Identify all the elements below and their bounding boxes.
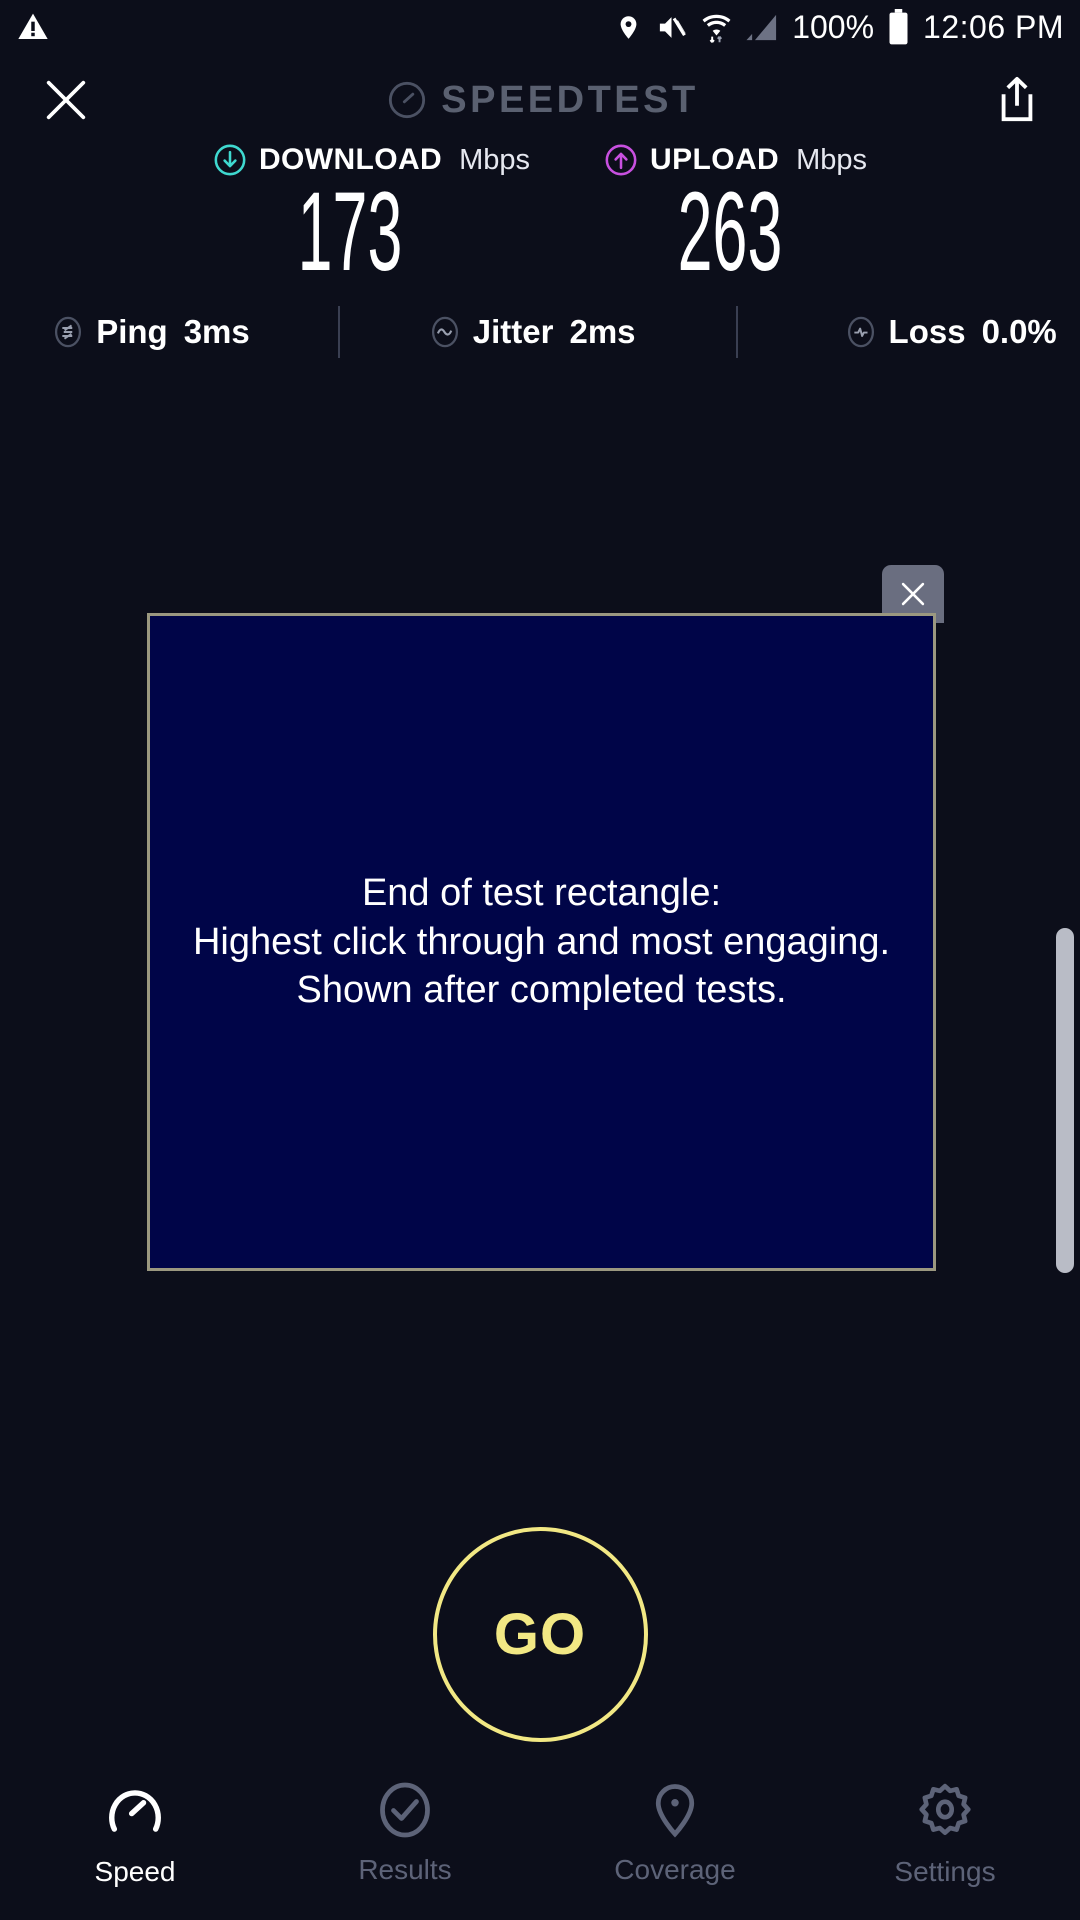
result-labels-row: DOWNLOAD Mbps UPLOAD Mbps (0, 143, 1080, 177)
warning-triangle-icon (16, 11, 50, 43)
ad-line-3: Shown after completed tests. (193, 966, 890, 1015)
go-button[interactable]: GO (433, 1527, 648, 1742)
cell-signal-icon (745, 12, 779, 43)
upload-value-box: 263 (540, 176, 920, 288)
metric-divider-2 (736, 306, 738, 358)
loss-icon (844, 315, 878, 349)
ad-line-2: Highest click through and most engaging. (193, 918, 890, 967)
advertisement-banner[interactable]: End of test rectangle: Highest click thr… (147, 613, 936, 1271)
nav-item-settings[interactable]: Settings (810, 1780, 1080, 1888)
battery-full-icon (887, 9, 910, 45)
ad-text-block: End of test rectangle: Highest click thr… (193, 869, 890, 1015)
jitter-icon (428, 315, 462, 349)
metric-jitter-value: 2ms (569, 313, 635, 351)
ping-icon (51, 315, 85, 349)
app-header: SPEEDTEST (0, 60, 1080, 140)
nav-label-results: Results (358, 1854, 451, 1886)
metric-ping-value: 3ms (184, 313, 250, 351)
page-title: SPEEDTEST (441, 79, 698, 122)
metric-loss-label: Loss (889, 313, 966, 351)
speedtest-app-screen: 100% 12:06 PM SPEEDTEST (0, 0, 1080, 1920)
vertical-scrollbar[interactable] (1056, 928, 1074, 1273)
metric-jitter-label: Jitter (473, 313, 554, 351)
check-circle-icon (375, 1780, 435, 1840)
mute-icon (655, 12, 688, 43)
brand-logo: SPEEDTEST (387, 79, 698, 122)
wifi-icon (701, 11, 732, 44)
speedometer-icon (387, 80, 427, 120)
status-bar-left (16, 11, 50, 43)
clock-label: 12:06 PM (923, 9, 1064, 46)
status-bar-right: 100% 12:06 PM (615, 9, 1064, 46)
nav-label-coverage: Coverage (614, 1854, 735, 1886)
upload-unit: Mbps (796, 144, 867, 177)
metric-divider-1 (338, 306, 340, 358)
speedometer-icon (104, 1780, 166, 1842)
metric-ping: Ping 3ms (51, 313, 250, 351)
nav-label-speed: Speed (95, 1856, 176, 1888)
gear-icon (914, 1780, 976, 1842)
nav-item-coverage[interactable]: Coverage (540, 1780, 810, 1886)
nav-label-settings: Settings (894, 1856, 995, 1888)
ad-line-1: End of test rectangle: (193, 869, 890, 918)
share-icon[interactable] (994, 75, 1040, 125)
download-value-box: 173 (160, 176, 540, 288)
go-button-container: GO (0, 1527, 1080, 1742)
go-button-label: GO (494, 1601, 586, 1668)
battery-percent-label: 100% (792, 9, 874, 46)
metric-ping-label: Ping (96, 313, 168, 351)
download-arrow-circle-icon (213, 143, 247, 177)
metric-loss: Loss 0.0% (844, 313, 1057, 351)
ad-close-icon (896, 577, 930, 611)
bottom-navigation-bar: Speed Results Coverage (0, 1772, 1080, 1920)
download-value: 173 (244, 176, 457, 288)
location-pin-icon (615, 11, 642, 44)
metric-loss-value: 0.0% (982, 313, 1057, 351)
download-unit: Mbps (459, 144, 530, 177)
upload-arrow-circle-icon (604, 143, 638, 177)
nav-item-speed[interactable]: Speed (0, 1780, 270, 1888)
nav-item-results[interactable]: Results (270, 1780, 540, 1886)
location-pin-icon (645, 1780, 705, 1840)
upload-value: 263 (624, 176, 837, 288)
status-bar: 100% 12:06 PM (0, 0, 1080, 54)
close-icon[interactable] (40, 74, 92, 126)
result-values-row: 173 263 (0, 176, 1080, 288)
metric-jitter: Jitter 2ms (428, 313, 636, 351)
metrics-row: Ping 3ms Jitter 2ms (0, 300, 1080, 364)
